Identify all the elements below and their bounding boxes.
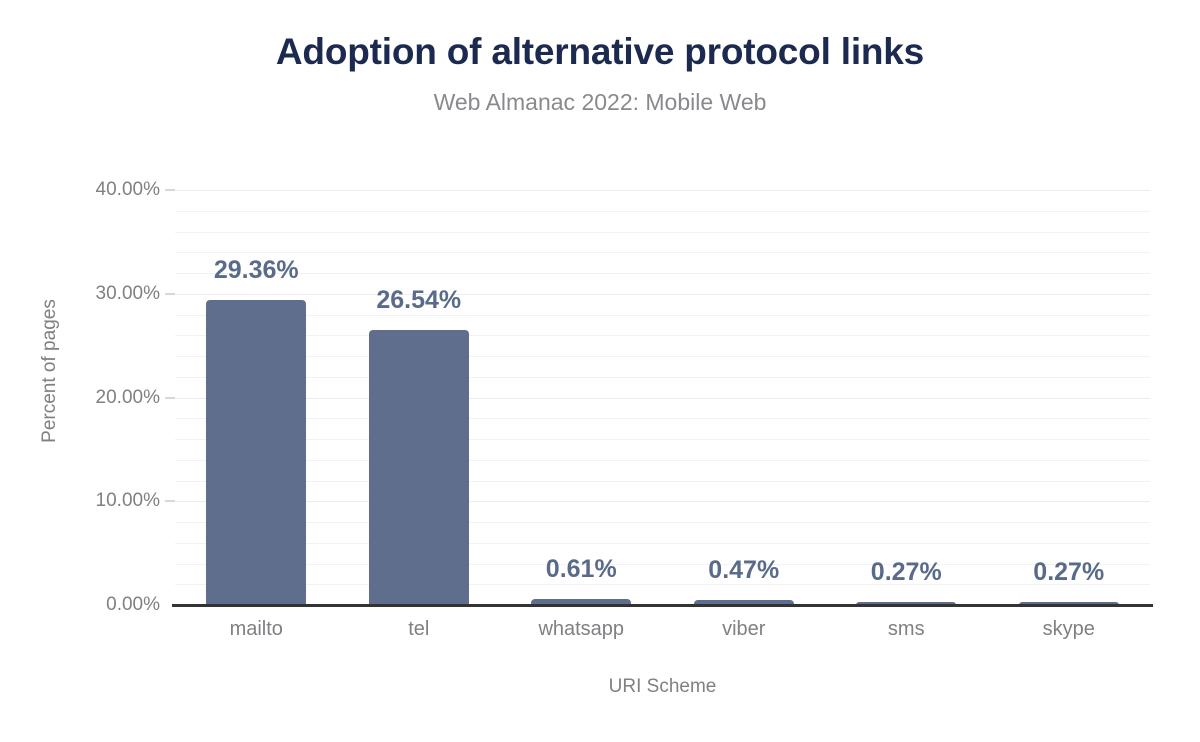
y-axis-tick-mark <box>165 293 175 295</box>
gridline <box>175 501 1150 502</box>
x-axis-line <box>172 604 1153 607</box>
gridline <box>175 273 1150 274</box>
gridline <box>175 232 1150 233</box>
gridline <box>175 460 1150 461</box>
y-axis-tick-mark <box>165 500 175 502</box>
gridline <box>175 439 1150 440</box>
x-axis-tick-label: sms <box>888 618 925 641</box>
gridline <box>175 335 1150 336</box>
gridline <box>175 294 1150 295</box>
gridline <box>175 377 1150 378</box>
y-axis-tick-mark <box>165 397 175 399</box>
x-axis-tick-label: mailto <box>230 618 283 641</box>
bar-value-label: 26.54% <box>376 286 461 315</box>
chart-figure: Adoption of alternative protocol links W… <box>0 0 1200 742</box>
bar-value-label: 0.27% <box>871 558 942 587</box>
x-axis-title: URI Scheme <box>175 676 1150 698</box>
chart-subtitle: Web Almanac 2022: Mobile Web <box>0 89 1200 116</box>
bar-value-label: 0.61% <box>546 555 617 584</box>
gridline <box>175 315 1150 316</box>
gridline <box>175 584 1150 585</box>
bar-value-label: 0.27% <box>1033 558 1104 587</box>
gridline <box>175 418 1150 419</box>
gridline <box>175 543 1150 544</box>
gridline <box>175 522 1150 523</box>
gridline <box>175 398 1150 399</box>
gridline <box>175 356 1150 357</box>
gridline <box>175 190 1150 191</box>
bar[interactable] <box>369 330 469 605</box>
y-axis-title: Percent of pages <box>30 0 70 742</box>
gridline <box>175 211 1150 212</box>
plot-area <box>175 190 1150 605</box>
bar-value-label: 0.47% <box>708 556 779 585</box>
gridline <box>175 252 1150 253</box>
x-axis-tick-label: tel <box>408 618 429 641</box>
chart-title: Adoption of alternative protocol links <box>0 31 1200 73</box>
bar[interactable] <box>206 300 306 605</box>
x-axis-tick-label: skype <box>1043 618 1095 641</box>
x-axis-tick-label: viber <box>722 618 765 641</box>
bar-value-label: 29.36% <box>214 256 299 285</box>
y-axis-tick-mark <box>165 189 175 191</box>
gridline <box>175 564 1150 565</box>
gridline <box>175 481 1150 482</box>
x-axis-tick-label: whatsapp <box>538 618 624 641</box>
